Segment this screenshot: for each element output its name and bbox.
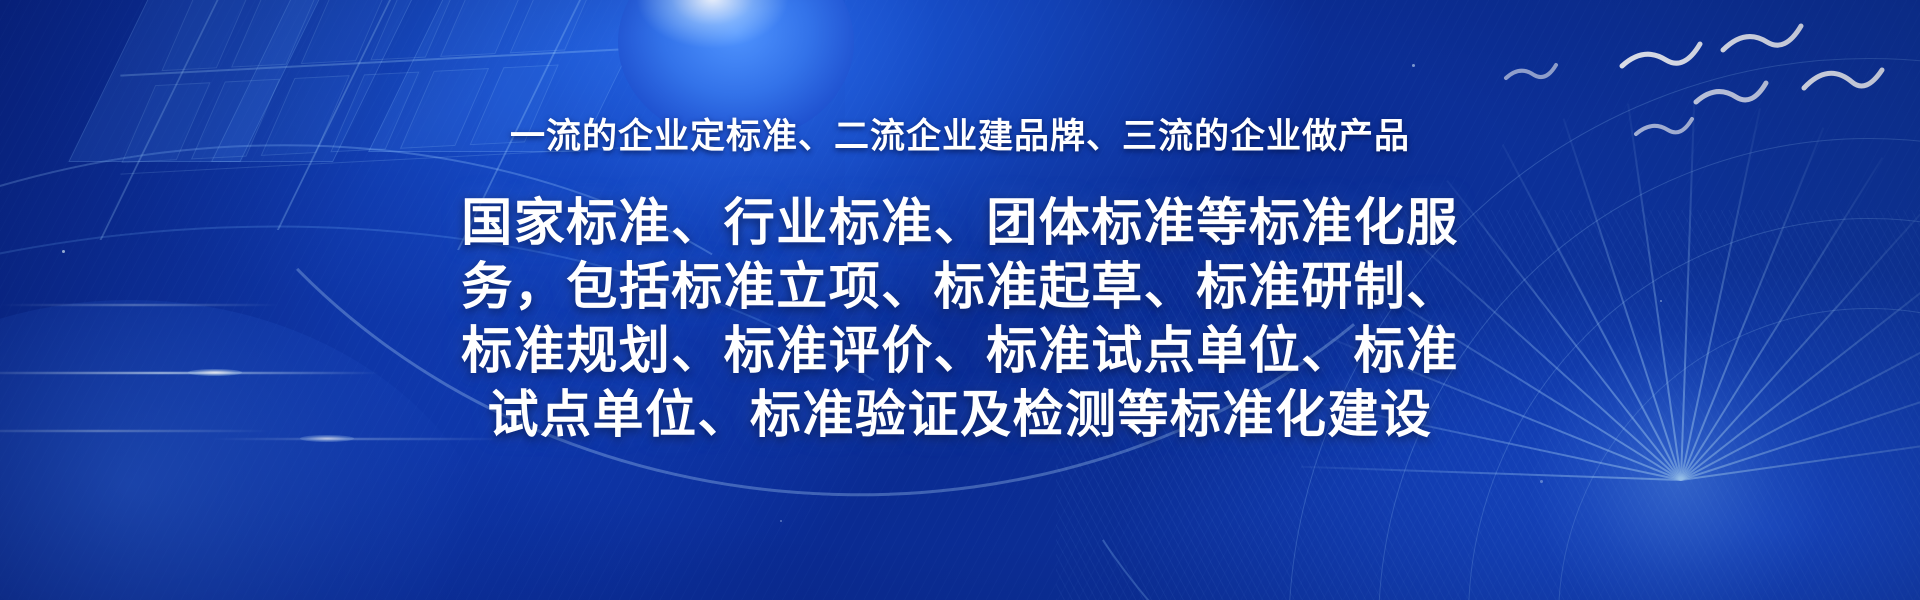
banner-text-block: 一流的企业定标准、二流企业建品牌、三流的企业做产品 国家标准、行业标准、团体标准… bbox=[0, 0, 1920, 600]
banner-headline: 国家标准、行业标准、团体标准等标准化服 务，包括标准立项、标准起草、标准研制、 … bbox=[430, 191, 1490, 448]
headline-line-4: 试点单位、标准验证及检测等标准化建设 bbox=[430, 383, 1490, 447]
headline-line-2: 务，包括标准立项、标准起草、标准研制、 bbox=[430, 255, 1490, 319]
headline-line-1: 国家标准、行业标准、团体标准等标准化服 bbox=[430, 191, 1490, 255]
banner-subtitle: 一流的企业定标准、二流企业建品牌、三流的企业做产品 bbox=[510, 118, 1410, 157]
promotional-banner: 一流的企业定标准、二流企业建品牌、三流的企业做产品 国家标准、行业标准、团体标准… bbox=[0, 0, 1920, 600]
headline-line-3: 标准规划、标准评价、标准试点单位、标准 bbox=[430, 319, 1490, 383]
